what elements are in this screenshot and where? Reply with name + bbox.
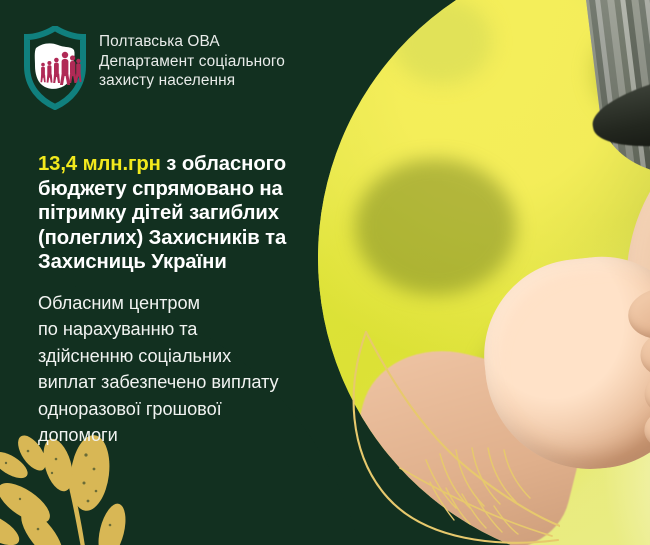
soldier-hand-holding-child-hand-photo — [318, 0, 650, 545]
headline-amount: 13,4 млн.грн — [38, 153, 161, 175]
body-paragraph: Обласним центром по нарахуванню та здійс… — [38, 290, 348, 448]
child-knuckle — [642, 405, 650, 453]
organization-name: Полтавська ОВА Департамент соціального з… — [99, 26, 285, 91]
brand-header: Полтавська ОВА Департамент соціального з… — [24, 26, 285, 110]
photo-background-bokeh — [318, 0, 650, 545]
headline: 13,4 млн.грн з обласного бюджету спрямов… — [38, 152, 338, 275]
child-knuckle — [643, 366, 650, 419]
bokeh-blob — [392, 0, 491, 84]
poltava-ova-social-protection-shield-logo — [24, 26, 86, 110]
poster: Полтавська ОВА Департамент соціального з… — [0, 0, 650, 545]
child-knuckle — [626, 284, 650, 342]
bokeh-blob — [355, 159, 516, 295]
